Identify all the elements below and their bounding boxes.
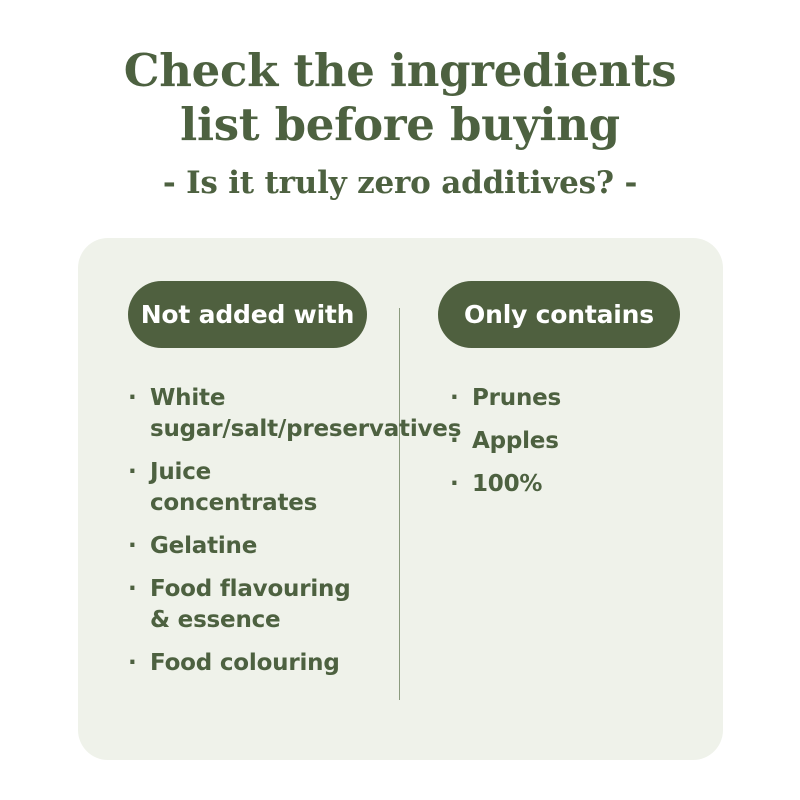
list-not-added-with: · White sugar/salt/preservatives · Juice… — [128, 383, 378, 679]
bullet-icon: · — [128, 383, 137, 414]
heading-block: Check the ingredients list before buying… — [0, 44, 800, 205]
column-not-added-with: Not added with · White sugar/salt/preser… — [128, 281, 378, 691]
list-item: · Food colouring — [128, 648, 378, 679]
list-item: · Gelatine — [128, 531, 378, 562]
badge-not-added-with: Not added with — [128, 281, 367, 348]
column-divider — [399, 308, 400, 700]
infographic-canvas: Check the ingredients list before buying… — [0, 0, 800, 800]
bullet-icon: · — [128, 574, 137, 605]
bullet-icon: · — [450, 469, 459, 500]
list-item-label: Prunes — [472, 383, 693, 414]
list-item: · Food flavouring & essence — [128, 574, 378, 636]
list-item: · White sugar/salt/preservatives — [128, 383, 378, 445]
list-item: · Prunes — [450, 383, 693, 414]
bullet-icon: · — [128, 648, 137, 679]
list-item-label: Food flavouring & essence — [150, 574, 378, 636]
list-item-label: Juice concentrates — [150, 457, 378, 519]
bullet-icon: · — [450, 383, 459, 414]
list-item-label: Food colouring — [150, 648, 378, 679]
list-item-label: Gelatine — [150, 531, 378, 562]
list-item: · Apples — [450, 426, 693, 457]
list-item-label: Apples — [472, 426, 693, 457]
list-only-contains: · Prunes · Apples · 100% — [450, 383, 693, 500]
page-title-line-2: list before buying — [0, 98, 800, 152]
badge-only-contains: Only contains — [438, 281, 680, 348]
list-item-label: White sugar/salt/preservatives — [150, 383, 378, 445]
list-item: · 100% — [450, 469, 693, 500]
column-only-contains: Only contains · Prunes · Apples · 100% — [438, 281, 693, 512]
page-subtitle: - Is it truly zero additives? - — [0, 161, 800, 205]
bullet-icon: · — [450, 426, 459, 457]
list-item-label: 100% — [472, 469, 693, 500]
bullet-icon: · — [128, 457, 137, 488]
list-item: · Juice concentrates — [128, 457, 378, 519]
page-title-line-1: Check the ingredients — [0, 44, 800, 98]
bullet-icon: · — [128, 531, 137, 562]
